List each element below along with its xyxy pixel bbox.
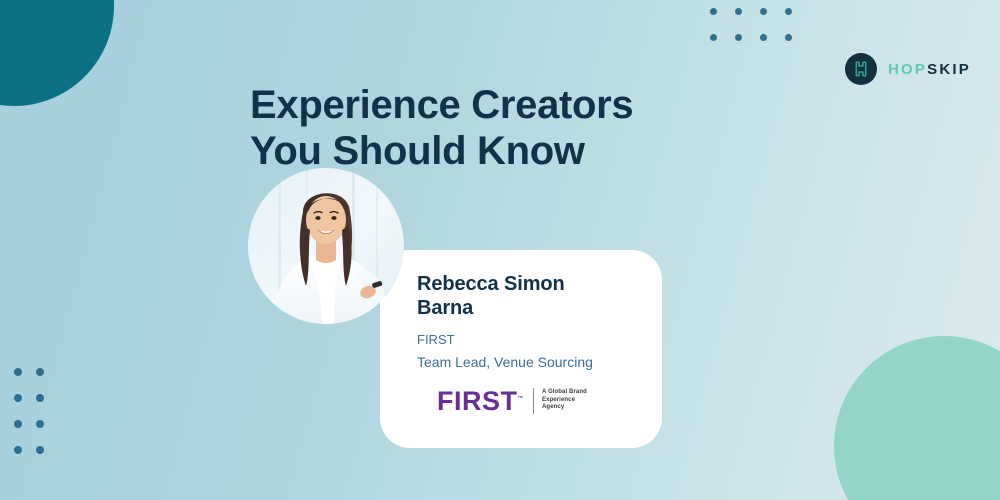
dot bbox=[14, 420, 22, 428]
headline-line-1: Experience Creators bbox=[250, 83, 633, 127]
person-role: Team Lead, Venue Sourcing bbox=[417, 353, 648, 371]
dot bbox=[760, 34, 767, 41]
first-wordmark: FIRST™ bbox=[437, 386, 524, 415]
person-name: Rebecca Simon Barna bbox=[417, 272, 648, 320]
headline-line-2: You Should Know bbox=[250, 128, 720, 174]
first-tagline: A Global Brand Experience Agency bbox=[542, 389, 587, 412]
dot-grid-bottom-left bbox=[14, 368, 58, 472]
dot bbox=[36, 368, 44, 376]
slide-canvas: Experience Creators You Should Know HOPS… bbox=[0, 0, 1000, 500]
dot bbox=[36, 394, 44, 402]
page-title: Experience Creators You Should Know bbox=[250, 82, 720, 174]
dot bbox=[710, 8, 717, 15]
dot bbox=[735, 8, 742, 15]
decorative-circle-top-left bbox=[0, 0, 114, 106]
decorative-circle-bottom-right bbox=[834, 336, 1000, 500]
dot-grid-top-right bbox=[710, 8, 810, 60]
hopskip-word-hop: HOP bbox=[888, 61, 927, 78]
dot bbox=[760, 8, 767, 15]
dot bbox=[710, 34, 717, 41]
hopskip-word-skip: SKIP bbox=[927, 61, 971, 78]
dot bbox=[14, 368, 22, 376]
dot bbox=[735, 34, 742, 41]
hopskip-monogram-icon bbox=[845, 53, 877, 85]
dot bbox=[14, 394, 22, 402]
dot bbox=[785, 8, 792, 15]
person-card: Rebecca Simon Barna FIRST Team Lead, Ven… bbox=[380, 250, 662, 448]
logo-divider bbox=[533, 388, 534, 414]
dot bbox=[785, 34, 792, 41]
trademark-icon: ™ bbox=[518, 396, 525, 402]
hopskip-wordmark: HOPSKIP bbox=[888, 61, 971, 78]
dot bbox=[36, 420, 44, 428]
first-wordmark-text: FIRST bbox=[437, 386, 518, 416]
person-card-content: Rebecca Simon Barna FIRST Team Lead, Ven… bbox=[417, 272, 648, 371]
person-company: FIRST bbox=[417, 331, 648, 348]
hopskip-logo[interactable]: HOPSKIP bbox=[845, 53, 971, 85]
first-company-logo: FIRST™ A Global Brand Experience Agency bbox=[437, 386, 587, 415]
dot bbox=[36, 446, 44, 454]
dot bbox=[14, 446, 22, 454]
avatar bbox=[248, 168, 404, 324]
